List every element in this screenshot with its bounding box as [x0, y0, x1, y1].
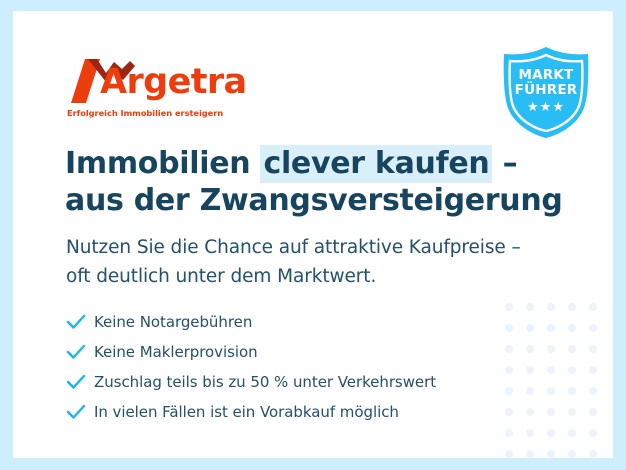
- decoration-dot: [547, 387, 555, 395]
- decoration-dot: [526, 366, 534, 374]
- decoration-dot: [547, 429, 555, 437]
- decoration-dot: [589, 429, 597, 437]
- badge-label-line2: FÜHRER: [500, 82, 592, 98]
- decoration-dot: [547, 324, 555, 332]
- page-subtitle: Nutzen Sie die Chance auf attraktive Kau…: [66, 233, 566, 291]
- subtitle-line1: Nutzen Sie die Chance auf attraktive Kau…: [66, 237, 521, 258]
- decoration-dot: [505, 429, 513, 437]
- decoration-dot: [526, 345, 534, 353]
- headline-line2: aus der Zwangsversteigerung: [65, 183, 563, 218]
- argetra-logo-wordmark: Argetra: [100, 65, 247, 100]
- decoration-dot: [589, 345, 597, 353]
- decoration-dot: [589, 366, 597, 374]
- decoration-dot: [547, 345, 555, 353]
- benefit-label: In vielen Fällen ist ein Vorabkauf mögli…: [94, 403, 399, 421]
- benefit-item: Keine Maklerprovision: [66, 337, 526, 367]
- decoration-dot: [568, 303, 576, 311]
- decoration-dot: [589, 303, 597, 311]
- decoration-dot: [568, 450, 576, 458]
- headline-line1-pre: Immobilien: [65, 146, 260, 181]
- check-icon: [66, 374, 94, 390]
- check-icon: [66, 344, 94, 360]
- benefit-label: Zuschlag teils bis zu 50 % unter Verkehr…: [94, 373, 436, 391]
- decoration-dot: [547, 408, 555, 416]
- decoration-dot: [526, 450, 534, 458]
- check-icon: [66, 404, 94, 420]
- decoration-dot: [505, 450, 513, 458]
- decoration-dot: [589, 387, 597, 395]
- benefit-label: Keine Maklerprovision: [94, 343, 258, 361]
- decoration-dot: [547, 450, 555, 458]
- badge-label-line1: MARKT: [500, 67, 592, 83]
- benefit-label: Keine Notargebühren: [94, 313, 252, 331]
- decoration-dot: [568, 345, 576, 353]
- decoration-dot: [526, 324, 534, 332]
- headline-highlight: clever kaufen: [260, 145, 492, 183]
- decoration-dot: [547, 303, 555, 311]
- benefit-item: Zuschlag teils bis zu 50 % unter Verkehr…: [66, 367, 526, 397]
- promo-banner: Argetra Erfolgreich Immobilien ersteiger…: [0, 0, 626, 470]
- decoration-dot: [589, 450, 597, 458]
- decoration-dot: [568, 429, 576, 437]
- decoration-dot: [589, 324, 597, 332]
- decoration-dot: [526, 408, 534, 416]
- subtitle-line2: oft deutlich unter dem Marktwert.: [66, 266, 376, 287]
- argetra-logo[interactable]: Argetra Erfolgreich Immobilien ersteiger…: [66, 56, 256, 118]
- page-title: Immobilien clever kaufen – aus der Zwang…: [65, 145, 585, 219]
- decoration-dot: [568, 387, 576, 395]
- decoration-dot: [526, 387, 534, 395]
- badge-stars-icon: ★★★: [500, 99, 592, 115]
- decoration-dot: [568, 366, 576, 374]
- decoration-dot: [568, 324, 576, 332]
- headline-line1-post: –: [492, 146, 517, 181]
- decoration-dot: [526, 429, 534, 437]
- benefit-item: Keine Notargebühren: [66, 307, 526, 337]
- argetra-logo-tagline: Erfolgreich Immobilien ersteigern: [67, 108, 223, 118]
- benefit-item: In vielen Fällen ist ein Vorabkauf mögli…: [66, 397, 526, 427]
- decoration-dot: [526, 303, 534, 311]
- decoration-dot: [547, 366, 555, 374]
- markt-fuehrer-badge: MARKT FÜHRER ★★★: [500, 46, 592, 139]
- benefits-list: Keine NotargebührenKeine Maklerprovision…: [66, 307, 526, 427]
- check-icon: [66, 314, 94, 330]
- decoration-dot: [568, 408, 576, 416]
- decoration-dot: [589, 408, 597, 416]
- banner-card: Argetra Erfolgreich Immobilien ersteiger…: [13, 11, 613, 458]
